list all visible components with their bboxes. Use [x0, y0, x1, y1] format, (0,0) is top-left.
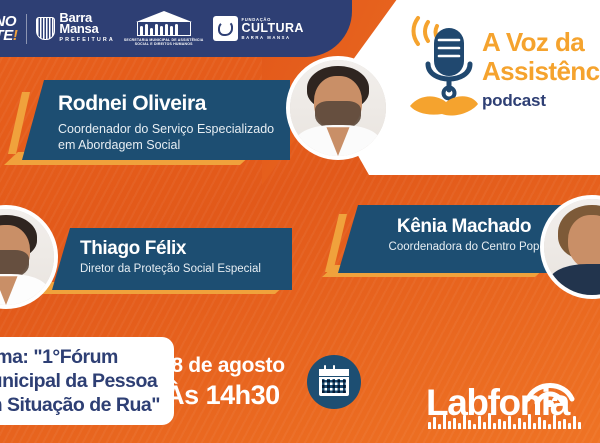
- microphone-icon: [406, 14, 480, 118]
- speaker-photo-kenia: [540, 195, 600, 299]
- secretaria-caption: SECRETARIA MUNICIPAL DE ASSISTÊNCIA SOCI…: [124, 38, 204, 47]
- logo-fundacao-cultura: FUNDAÇÃO CULTURA BARRA MANSA: [213, 15, 304, 42]
- logo-secretaria-assistencia: SECRETARIA MUNICIPAL DE ASSISTÊNCIA SOCI…: [124, 11, 204, 47]
- house-roof: [136, 11, 192, 22]
- logo-barra-mansa: Barra Mansa PREFEITURA: [36, 12, 114, 46]
- portrait-illustration: [544, 199, 600, 295]
- speaker-card-rodnei: Rodnei Oliveira Coordenador do Serviço E…: [22, 80, 290, 160]
- calendar-grid: [322, 379, 346, 393]
- speaker-role: Diretor da Proteção Social Especial: [80, 263, 292, 275]
- speaker-card-kenia: Kênia Machado Coordenadora do Centro Pop: [338, 205, 564, 273]
- calendar-rings: [324, 365, 344, 370]
- speaker-role: Coordenador do Serviço Especializado em …: [58, 121, 290, 153]
- people-figures: [140, 24, 178, 35]
- secretaria-line2: SOCIAL E DIREITOS HUMANOS: [135, 42, 193, 46]
- date-text-block: 18 de agosto Às 14h30: [160, 355, 285, 409]
- podcast-wordmark: A Voz da Assistência podcast: [482, 28, 600, 111]
- header-logo-group: RNO NTE! Barra Mansa PREFEITURA SECRETAR…: [0, 0, 304, 57]
- speaker-card-thiago: Thiago Félix Diretor da Proteção Social …: [52, 228, 292, 290]
- secretaria-line1: SECRETARIA MUNICIPAL DE ASSISTÊNCIA: [124, 38, 204, 42]
- house-with-people-icon: [136, 11, 192, 37]
- brand-title-line1: A Voz da: [482, 28, 600, 57]
- governo-line2: NTE: [0, 27, 13, 44]
- labfonia-logo: Labfonia: [426, 371, 592, 437]
- portrait-illustration: [290, 60, 386, 156]
- calendar-icon: [307, 355, 361, 409]
- speaker-photo-rodnei: [286, 56, 390, 160]
- calendar-sheet: [319, 369, 349, 396]
- coat-of-arms-icon: [36, 17, 55, 40]
- barra-mansa-text: Barra Mansa PREFEITURA: [59, 12, 114, 46]
- event-time: Às 14h30: [160, 382, 285, 409]
- barra-line2: Mansa: [59, 23, 114, 34]
- barra-line3: PREFEITURA: [59, 35, 114, 46]
- skyline-equalizer: [428, 413, 588, 429]
- logo-divider: [26, 14, 27, 44]
- theme-card: Tema: "1°Fórum Municipal da Pessoa em Si…: [0, 337, 174, 425]
- theme-text: Tema: "1°Fórum Municipal da Pessoa em Si…: [0, 345, 160, 417]
- speaker-role: Coordenadora do Centro Pop: [364, 241, 564, 253]
- speaker-name: Rodnei Oliveira: [58, 92, 290, 116]
- event-date: 18 de agosto: [160, 355, 285, 376]
- speaker-name: Thiago Félix: [80, 238, 292, 260]
- speaker-photo-thiago: [0, 205, 58, 309]
- open-hand-icon: [410, 96, 478, 115]
- governo-exclaim: !: [13, 27, 18, 44]
- cultura-text: FUNDAÇÃO CULTURA BARRA MANSA: [242, 15, 304, 42]
- podcast-poster: RNO NTE! Barra Mansa PREFEITURA SECRETAR…: [0, 0, 600, 443]
- logo-governo-presente: RNO NTE!: [0, 15, 17, 43]
- podcast-brand: A Voz da Assistência podcast: [404, 6, 600, 128]
- portrait-illustration: [0, 209, 54, 305]
- leaf-icon: [213, 16, 238, 41]
- cultura-line2: CULTURA: [242, 24, 304, 33]
- brand-title-line2: Assistência: [482, 57, 600, 86]
- event-datetime: 18 de agosto Às 14h30: [160, 337, 410, 427]
- speaker-name: Kênia Machado: [364, 216, 564, 238]
- brand-subtitle: podcast: [482, 91, 600, 111]
